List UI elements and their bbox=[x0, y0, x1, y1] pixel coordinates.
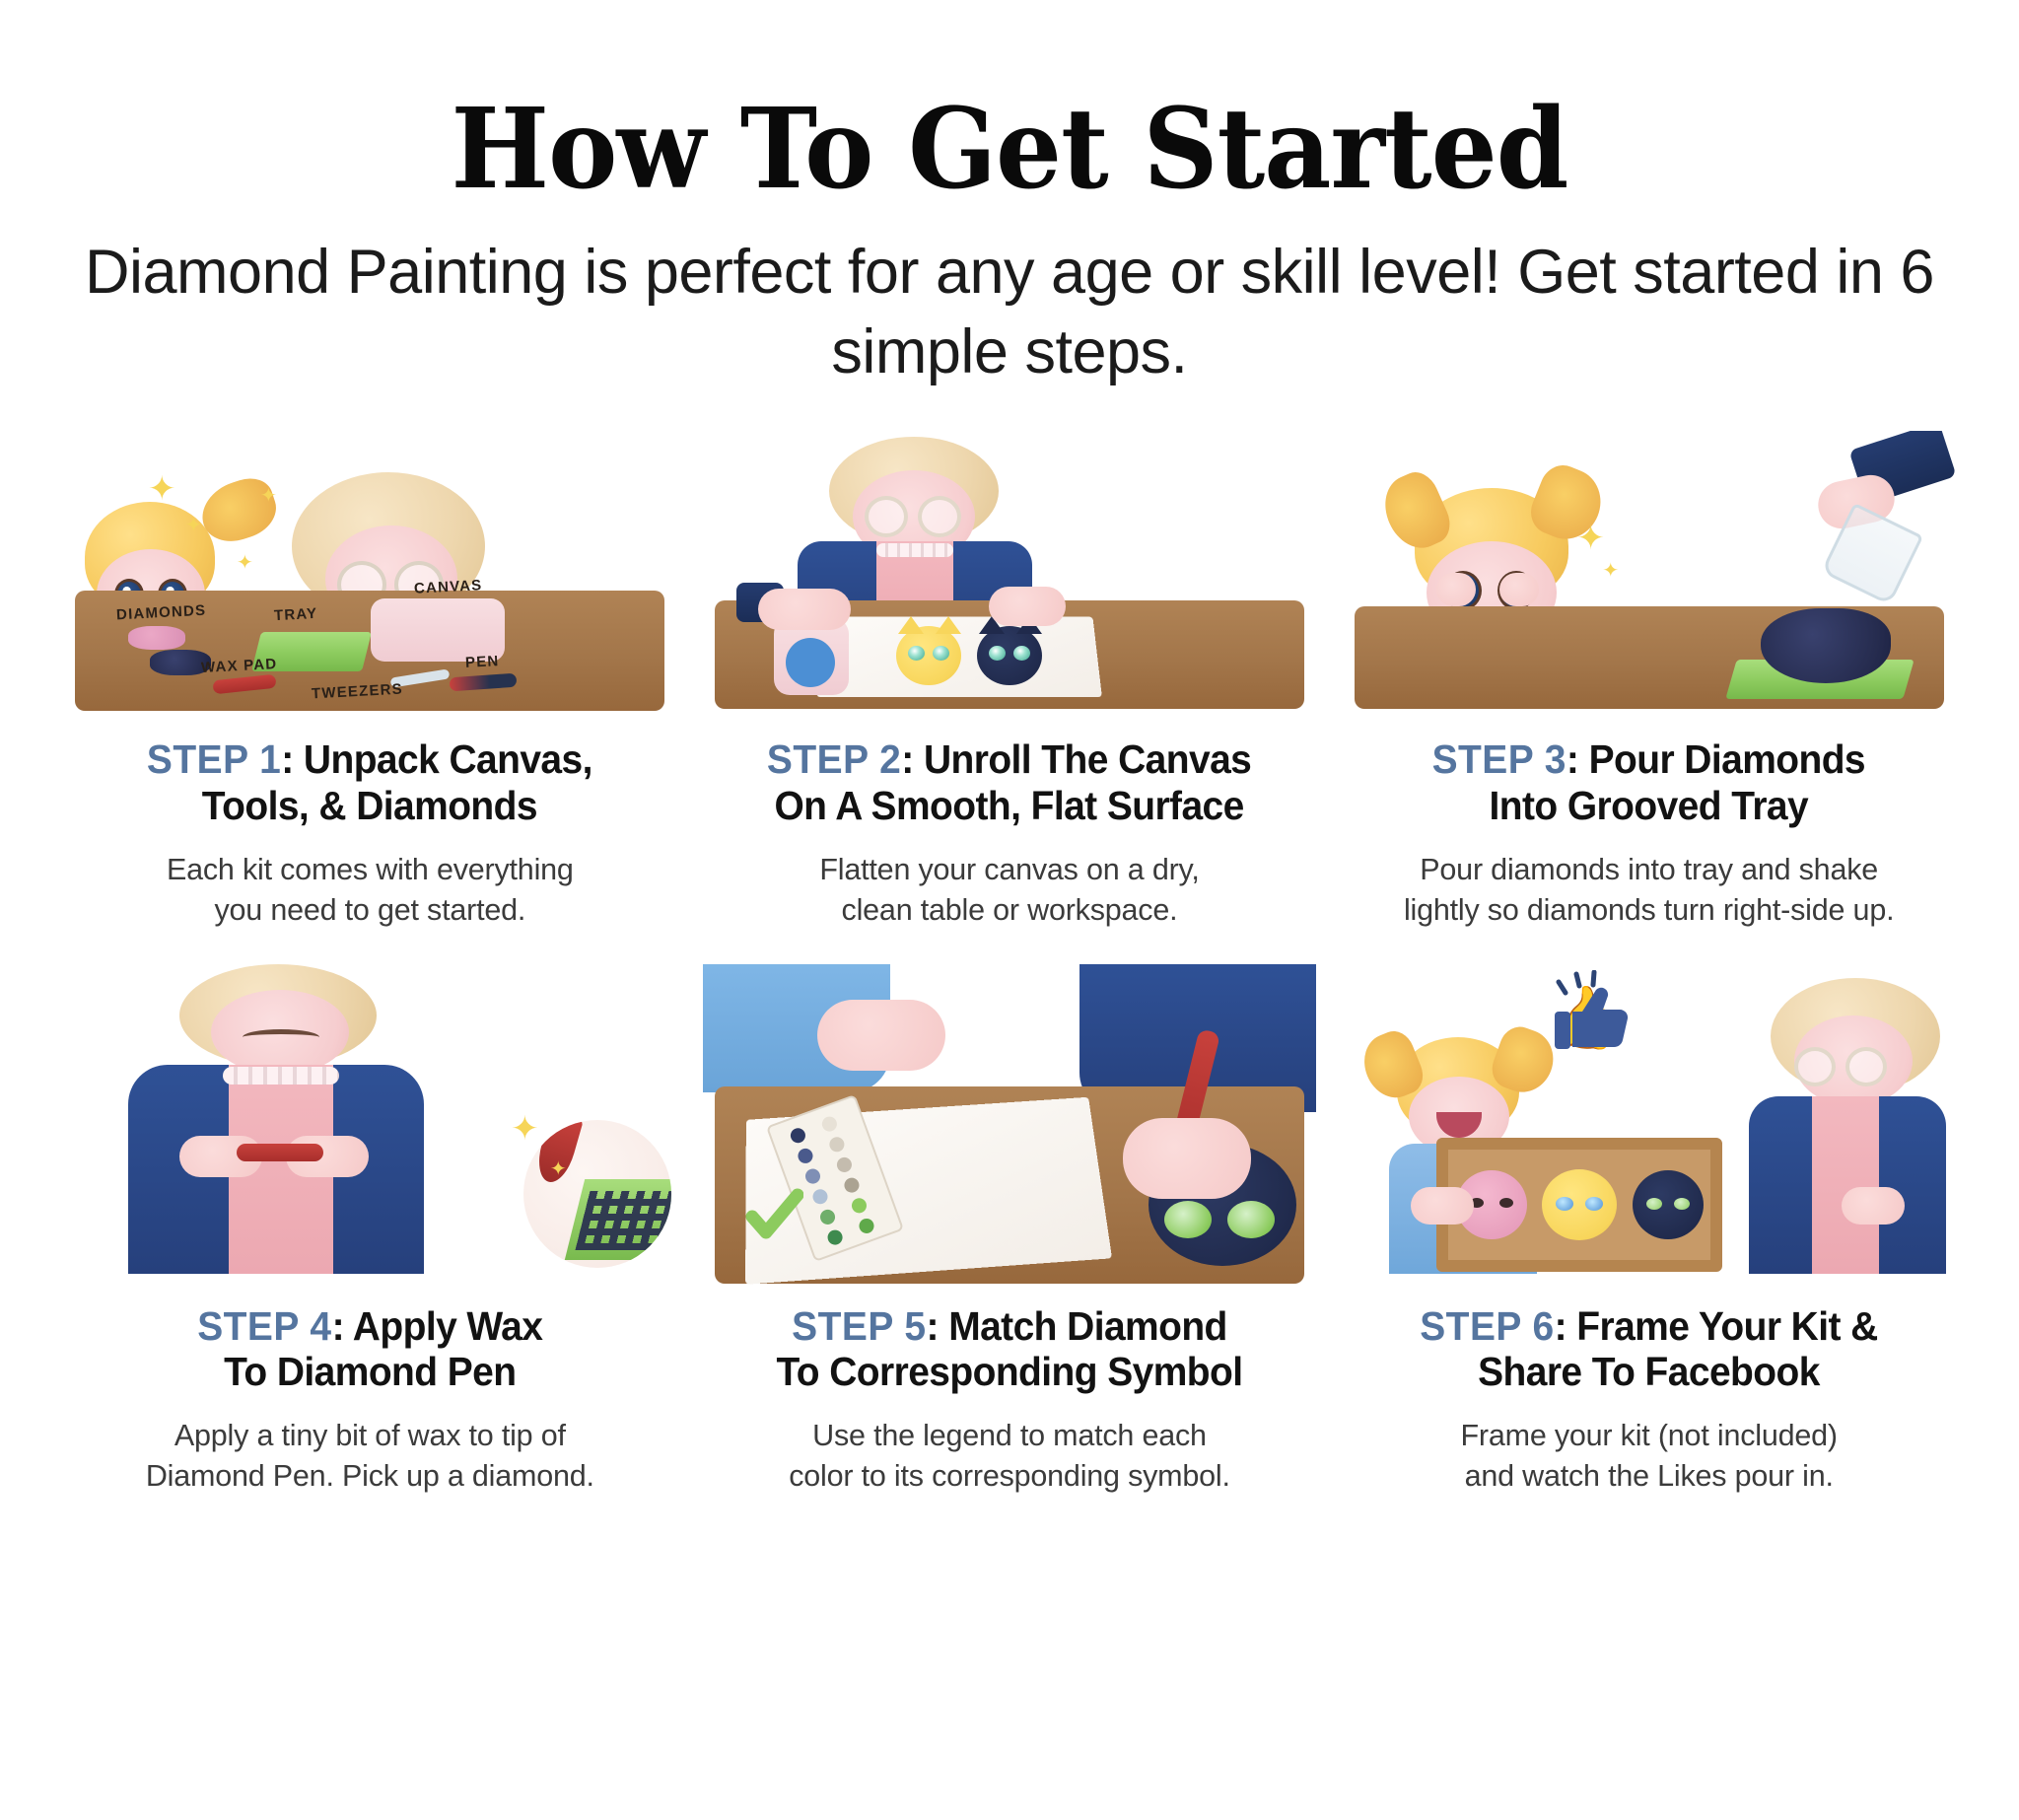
step-5-separator: : bbox=[927, 1303, 939, 1349]
step-4-title-line1: Apply Wax bbox=[353, 1303, 543, 1349]
sparkle-icon: ✦ bbox=[511, 1112, 539, 1146]
diamonds-pile bbox=[1761, 608, 1891, 683]
checkmark-icon bbox=[744, 1185, 803, 1244]
legend-dot bbox=[827, 1135, 846, 1154]
sparkle-icon: ✦ bbox=[260, 486, 277, 506]
step-6-title: STEP 6: Frame Your Kit & Share To Facebo… bbox=[1420, 1303, 1877, 1395]
cat-eye bbox=[933, 646, 949, 661]
step-4-illustration: ✦ ✦ bbox=[63, 964, 677, 1290]
legend-dot bbox=[857, 1216, 875, 1234]
step-3-desc-line1: Pour diamonds into tray and shake bbox=[1420, 853, 1878, 886]
woman-glasses-right bbox=[1845, 1047, 1887, 1086]
step-5-number: STEP 5 bbox=[792, 1303, 926, 1349]
step-5-desc-line2: color to its corresponding symbol. bbox=[789, 1459, 1230, 1493]
legend-dot bbox=[788, 1126, 806, 1145]
framed-artwork bbox=[1436, 1138, 1722, 1272]
legend-dot bbox=[850, 1196, 869, 1215]
step-1-desc-line2: you need to get started. bbox=[214, 893, 525, 927]
step-6-desc-line1: Frame your kit (not included) bbox=[1460, 1419, 1837, 1452]
step-5-title-line1: Match Diamond bbox=[948, 1303, 1227, 1349]
step-4-separator: : bbox=[332, 1303, 344, 1349]
step-2-separator: : bbox=[902, 736, 914, 782]
illo-label-pen: PEN bbox=[465, 653, 500, 671]
diamonds-pink-pile bbox=[128, 626, 185, 650]
legend-dot bbox=[803, 1166, 822, 1185]
step-3-title-line2: Into Grooved Tray bbox=[1490, 783, 1809, 828]
step-6-illustration: 👍 bbox=[1342, 964, 1956, 1290]
step-2-description: Flatten your canvas on a dry, clean tabl… bbox=[819, 850, 1199, 931]
step-5-illustration bbox=[703, 964, 1317, 1290]
step-2-title-line2: On A Smooth, Flat Surface bbox=[775, 783, 1244, 828]
step-card-3: ✦ ✦ bbox=[1342, 431, 1956, 930]
cat-yellow bbox=[1542, 1169, 1617, 1240]
hand-left-pointing bbox=[817, 1000, 945, 1071]
cat-eye bbox=[989, 646, 1006, 661]
step-card-1: ✦ ✦ ✦ ✦ DIAMONDS TRAY WAX P bbox=[63, 431, 677, 930]
zoom-detail-circle bbox=[523, 1120, 671, 1268]
step-3-title: STEP 3: Pour Diamonds Into Grooved Tray bbox=[1432, 736, 1865, 828]
legend-dot bbox=[834, 1155, 853, 1173]
legend-dot bbox=[810, 1187, 829, 1206]
cat-eye bbox=[1013, 646, 1030, 661]
hand-left bbox=[758, 589, 851, 630]
page-subtitle: Diamond Painting is perfect for any age … bbox=[0, 233, 2019, 391]
legend-dot bbox=[819, 1114, 838, 1133]
cat-ear-left bbox=[898, 616, 924, 634]
step-3-description: Pour diamonds into tray and shake lightl… bbox=[1404, 850, 1894, 931]
step-4-description: Apply a tiny bit of wax to tip of Diamon… bbox=[146, 1416, 594, 1497]
step-2-title: STEP 2: Unroll The Canvas On A Smooth, F… bbox=[767, 736, 1251, 828]
step-4-title-line2: To Diamond Pen bbox=[224, 1349, 516, 1394]
cat-eye bbox=[1674, 1198, 1690, 1210]
canvas-roll-inner bbox=[786, 638, 835, 687]
cat-eye bbox=[1227, 1201, 1275, 1238]
infographic-page: How To Get Started Diamond Painting is p… bbox=[0, 0, 2019, 1820]
step-4-desc-line2: Diamond Pen. Pick up a diamond. bbox=[146, 1459, 594, 1493]
step-1-title-line2: Tools, & Diamonds bbox=[202, 783, 537, 828]
legend-dot bbox=[825, 1227, 844, 1246]
cat-ear-right bbox=[936, 616, 961, 634]
step-6-desc-line2: and watch the Likes pour in. bbox=[1465, 1459, 1834, 1493]
cat-eye bbox=[1164, 1201, 1212, 1238]
legend-dot bbox=[796, 1146, 814, 1164]
illo-label-tray: TRAY bbox=[274, 605, 318, 624]
step-6-number: STEP 6 bbox=[1420, 1303, 1554, 1349]
cat-eye bbox=[1646, 1198, 1662, 1210]
woman-glasses-right bbox=[918, 496, 961, 537]
cat-navy bbox=[1633, 1170, 1704, 1239]
woman-pearls bbox=[876, 543, 953, 557]
hand-right bbox=[989, 587, 1066, 626]
canvas-roll bbox=[371, 598, 505, 662]
diamond-pen bbox=[237, 1144, 323, 1161]
sparkle-icon: ✦ bbox=[185, 516, 202, 535]
woman-shirt bbox=[1812, 1096, 1879, 1274]
step-3-title-line1: Pour Diamonds bbox=[1589, 736, 1865, 782]
cat-eye bbox=[1585, 1197, 1603, 1211]
legend-dot bbox=[842, 1175, 861, 1194]
girl-hand-left bbox=[1436, 573, 1476, 606]
step-5-title: STEP 5: Match Diamond To Corresponding S… bbox=[776, 1303, 1242, 1395]
step-1-illustration: ✦ ✦ ✦ ✦ DIAMONDS TRAY WAX P bbox=[63, 431, 677, 717]
step-1-number: STEP 1 bbox=[147, 736, 281, 782]
step-card-4: ✦ ✦ STEP 4: Apply Wax To Diamond Pen App… bbox=[63, 964, 677, 1497]
cat-navy bbox=[977, 626, 1042, 685]
page-title: How To Get Started bbox=[60, 95, 1958, 205]
step-card-6: 👍 bbox=[1342, 964, 1956, 1497]
legend-dot bbox=[818, 1207, 837, 1225]
step-3-number: STEP 3 bbox=[1432, 736, 1566, 782]
step-3-illustration: ✦ ✦ bbox=[1342, 431, 1956, 717]
step-2-title-line1: Unroll The Canvas bbox=[924, 736, 1251, 782]
woman-pearls bbox=[223, 1067, 339, 1085]
sparkle-icon: ✦ bbox=[237, 553, 253, 573]
step-1-title-line1: Unpack Canvas, bbox=[304, 736, 592, 782]
step-1-description: Each kit comes with everything you need … bbox=[167, 850, 574, 931]
woman-smile bbox=[243, 1029, 319, 1045]
girl-hand bbox=[1411, 1187, 1474, 1225]
step-1-title: STEP 1: Unpack Canvas, Tools, & Diamonds bbox=[147, 736, 592, 828]
step-5-title-line2: To Corresponding Symbol bbox=[776, 1349, 1242, 1394]
step-3-desc-line2: lightly so diamonds turn right-side up. bbox=[1404, 893, 1894, 927]
step-2-number: STEP 2 bbox=[767, 736, 901, 782]
step-2-illustration bbox=[703, 431, 1317, 717]
step-4-title: STEP 4: Apply Wax To Diamond Pen bbox=[197, 1303, 542, 1395]
step-5-description: Use the legend to match each color to it… bbox=[789, 1416, 1230, 1497]
step-2-desc-line1: Flatten your canvas on a dry, bbox=[819, 853, 1199, 886]
cat-eye bbox=[1556, 1197, 1573, 1211]
girl-hand-right bbox=[1499, 573, 1539, 606]
step-5-desc-line1: Use the legend to match each bbox=[812, 1419, 1207, 1452]
sparkle-icon: ✦ bbox=[1602, 561, 1619, 581]
step-6-title-line1: Frame Your Kit & bbox=[1576, 1303, 1877, 1349]
woman-hand bbox=[1842, 1187, 1905, 1225]
sparkle-icon: ✦ bbox=[1576, 522, 1605, 555]
diamonds-in-tray bbox=[575, 1191, 670, 1250]
step-3-separator: : bbox=[1566, 736, 1578, 782]
step-4-desc-line1: Apply a tiny bit of wax to tip of bbox=[174, 1419, 566, 1452]
step-6-separator: : bbox=[1555, 1303, 1566, 1349]
step-card-2: STEP 2: Unroll The Canvas On A Smooth, F… bbox=[703, 431, 1317, 930]
step-card-5: STEP 5: Match Diamond To Corresponding S… bbox=[703, 964, 1317, 1497]
header: How To Get Started Diamond Painting is p… bbox=[0, 0, 2019, 391]
cat-eye bbox=[908, 646, 925, 661]
step-2-desc-line2: clean table or workspace. bbox=[842, 893, 1178, 927]
cat-eye bbox=[1499, 1198, 1513, 1208]
cat-yellow bbox=[896, 626, 961, 685]
hand-right-holding-pen bbox=[1123, 1118, 1251, 1199]
step-1-desc-line1: Each kit comes with everything bbox=[167, 853, 574, 886]
step-1-separator: : bbox=[282, 736, 294, 782]
thumbs-up-glyph-icon bbox=[1543, 970, 1637, 1065]
woman-glasses-left bbox=[1794, 1047, 1836, 1086]
step-4-number: STEP 4 bbox=[197, 1303, 331, 1349]
sparkle-icon: ✦ bbox=[550, 1159, 567, 1179]
step-6-title-line2: Share To Facebook bbox=[1478, 1349, 1820, 1394]
sparkle-icon: ✦ bbox=[148, 472, 176, 506]
woman-glasses-left bbox=[865, 496, 908, 537]
steps-grid: ✦ ✦ ✦ ✦ DIAMONDS TRAY WAX P bbox=[0, 431, 2019, 1497]
step-6-description: Frame your kit (not included) and watch … bbox=[1460, 1416, 1837, 1497]
